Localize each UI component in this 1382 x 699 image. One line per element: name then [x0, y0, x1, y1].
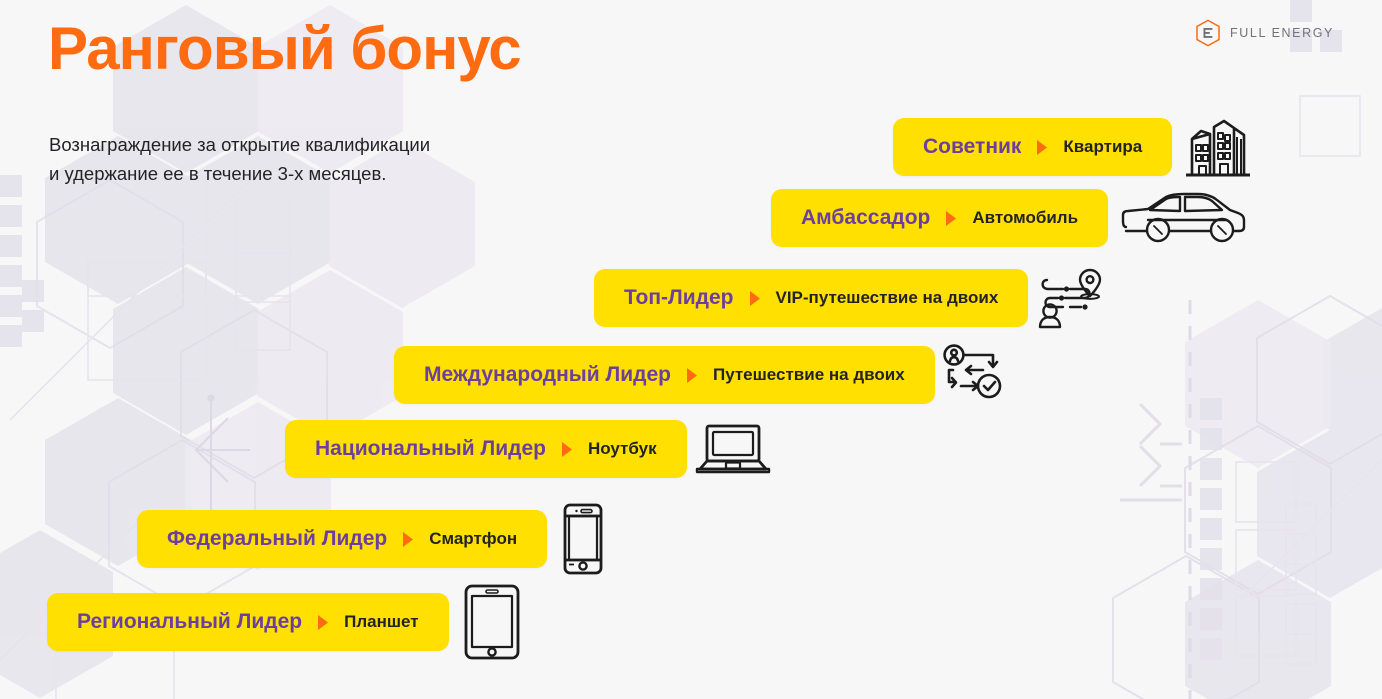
smartphone-icon — [547, 497, 619, 581]
rank-pill[interactable]: Международный Лидер Путешествие на двоих — [394, 346, 935, 404]
reward-label: Путешествие на двоих — [713, 365, 905, 385]
reward-label: Планшет — [344, 612, 418, 632]
reward-label: Квартира — [1063, 137, 1142, 157]
list-item[interactable]: Советник Квартира — [893, 104, 1264, 190]
orange-triangle-arrow-icon — [750, 291, 760, 306]
reward-label: Автомобиль — [972, 208, 1078, 228]
travel-route-person-pin-icon — [1028, 261, 1112, 335]
rank-label: Международный Лидер — [424, 363, 671, 387]
rank-bonus-ladder: Советник Квартира — [0, 0, 1382, 699]
person-flow-check-icon — [935, 338, 1013, 412]
rank-pill[interactable]: Амбассадор Автомобиль — [771, 189, 1108, 247]
rank-pill[interactable]: Национальный Лидер Ноутбук — [285, 420, 687, 478]
orange-triangle-arrow-icon — [562, 442, 572, 457]
laptop-icon — [687, 417, 779, 481]
orange-triangle-arrow-icon — [1037, 140, 1047, 155]
list-item[interactable]: Национальный Лидер Ноутбук — [285, 417, 779, 481]
rank-pill[interactable]: Топ-Лидер VIP-путешествие на двоих — [594, 269, 1028, 327]
list-item[interactable]: Амбассадор Автомобиль — [771, 183, 1258, 253]
orange-triangle-arrow-icon — [403, 532, 413, 547]
orange-triangle-arrow-icon — [318, 615, 328, 630]
rank-pill[interactable]: Федеральный Лидер Смартфон — [137, 510, 547, 568]
orange-triangle-arrow-icon — [946, 211, 956, 226]
car-icon — [1108, 183, 1258, 253]
reward-label: VIP-путешествие на двоих — [776, 288, 999, 308]
apartment-buildings-icon — [1172, 104, 1264, 190]
rank-pill[interactable]: Региональный Лидер Планшет — [47, 593, 449, 651]
rank-label: Советник — [923, 135, 1021, 159]
rank-label: Амбассадор — [801, 206, 930, 230]
tablet-icon — [449, 578, 535, 666]
rank-label: Региональный Лидер — [77, 610, 302, 634]
list-item[interactable]: Федеральный Лидер Смартфон — [137, 497, 619, 581]
list-item[interactable]: Международный Лидер Путешествие на двоих — [394, 338, 1013, 412]
rank-pill[interactable]: Советник Квартира — [893, 118, 1172, 176]
rank-label: Топ-Лидер — [624, 286, 734, 310]
rank-label: Национальный Лидер — [315, 437, 546, 461]
reward-label: Ноутбук — [588, 439, 657, 459]
orange-triangle-arrow-icon — [687, 368, 697, 383]
list-item[interactable]: Топ-Лидер VIP-путешествие на двоих — [594, 261, 1112, 335]
slide-canvas: FULL ENERGY Ранговый бонус Вознаграждени… — [0, 0, 1382, 699]
list-item[interactable]: Региональный Лидер Планшет — [47, 578, 535, 666]
rank-label: Федеральный Лидер — [167, 527, 387, 551]
reward-label: Смартфон — [429, 529, 517, 549]
